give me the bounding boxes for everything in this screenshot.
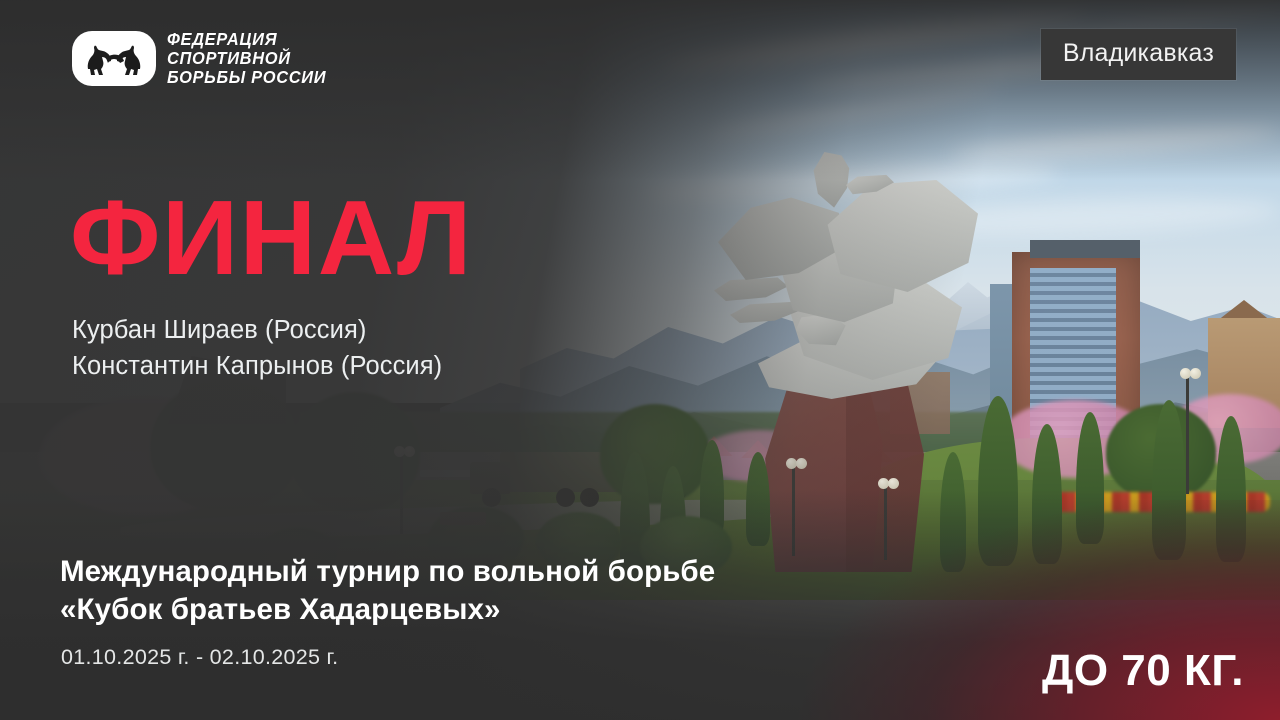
- weight-class-label: ДО 70 КГ.: [1042, 646, 1244, 696]
- stage-title: ФИНАЛ: [70, 185, 473, 291]
- athlete-list: Курбан Шираев (Россия) Константин Капрын…: [72, 312, 442, 384]
- federation-logo-text: ФЕДЕРАЦИЯ СПОРТИВНОЙ БОРЬБЫ РОССИИ: [167, 30, 336, 86]
- two-wrestling-bears-icon: [72, 31, 156, 86]
- top-dark-overlay: [0, 0, 1280, 180]
- federation-logo-line-2: СПОРТИВНОЙ: [167, 49, 326, 67]
- athlete-name: Константин Капрынов (Россия): [72, 348, 442, 384]
- tournament-title-line-2: «Кубок братьев Хадарцевых»: [60, 591, 715, 629]
- event-dates: 01.10.2025 г. - 02.10.2025 г.: [61, 645, 338, 670]
- promo-graphic: ФЕДЕРАЦИЯ СПОРТИВНОЙ БОРЬБЫ РОССИИ Влади…: [0, 0, 1280, 720]
- tournament-title: Международный турнир по вольной борьбе «…: [60, 553, 715, 630]
- athlete-name: Курбан Шираев (Россия): [72, 312, 442, 348]
- federation-logo: ФЕДЕРАЦИЯ СПОРТИВНОЙ БОРЬБЫ РОССИИ: [72, 30, 336, 86]
- city-badge: Владикавказ: [1041, 29, 1236, 80]
- tournament-title-line-1: Международный турнир по вольной борьбе: [60, 553, 715, 591]
- federation-logo-line-1: ФЕДЕРАЦИЯ: [167, 30, 326, 48]
- federation-logo-line-3: БОРЬБЫ РОССИИ: [167, 68, 326, 86]
